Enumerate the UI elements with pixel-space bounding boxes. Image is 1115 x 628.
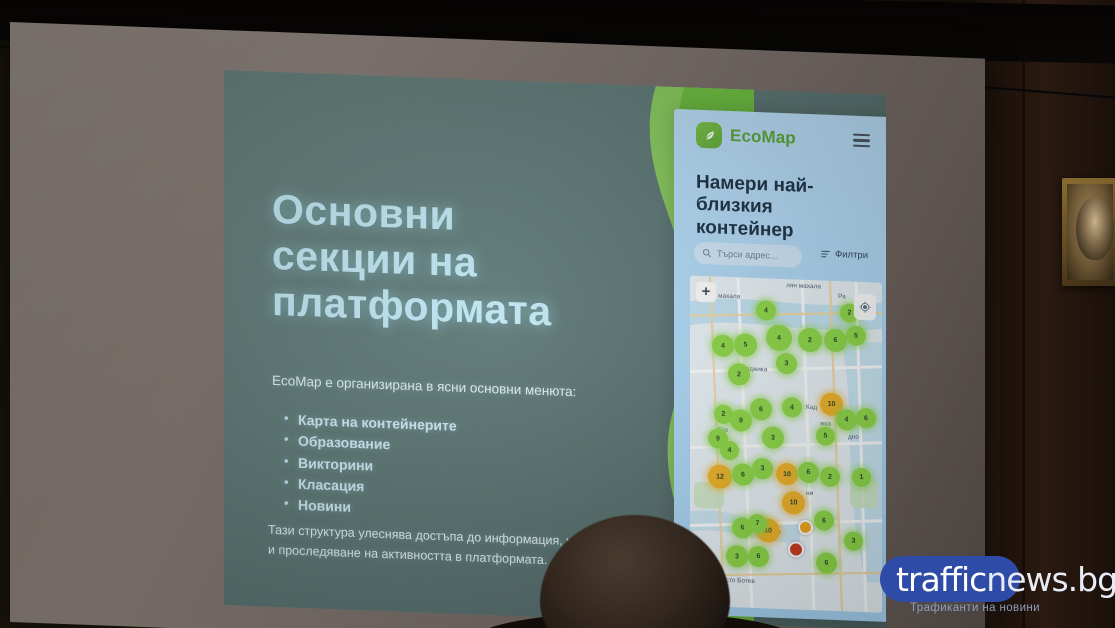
- map-cluster-marker[interactable]: 4: [756, 300, 776, 321]
- mockup-header: EcoMap: [674, 109, 886, 165]
- map-cluster-marker[interactable]: 10: [776, 463, 798, 486]
- search-input[interactable]: Търси адрес...: [694, 242, 802, 268]
- map-cluster-marker[interactable]: 3: [762, 426, 784, 449]
- app-logo-text: EcoMap: [730, 126, 796, 148]
- watermark: trafficnews.bg Трафиканти на новини: [880, 550, 1115, 620]
- filter-icon: [820, 248, 831, 259]
- map-cluster-marker[interactable]: 3: [726, 545, 748, 568]
- map-cluster-marker[interactable]: 12: [708, 464, 732, 489]
- watermark-brand: trafficnews.bg: [896, 560, 1115, 600]
- map-cluster-marker[interactable]: 4: [836, 409, 857, 431]
- map-zoom-in-button[interactable]: +: [696, 282, 716, 303]
- map-label: дно: [848, 433, 859, 440]
- map-cluster-marker[interactable]: 2: [728, 363, 750, 386]
- watermark-tagline: Трафиканти на новини: [910, 602, 1040, 614]
- map-cluster-marker[interactable]: 5: [816, 426, 835, 446]
- portrait-mat: [1067, 184, 1113, 280]
- map-cluster-marker[interactable]: 5: [734, 333, 757, 357]
- hamburger-menu-icon[interactable]: [853, 134, 870, 148]
- map-cluster-marker[interactable]: 1: [852, 468, 871, 488]
- map-cluster-marker[interactable]: 5: [846, 325, 866, 346]
- slide-title: Основни секции на платформата: [272, 187, 602, 337]
- search-icon: [702, 248, 712, 258]
- filters-button[interactable]: Филтри: [820, 248, 868, 261]
- map-cluster-marker[interactable]: 6: [816, 552, 837, 574]
- map-cluster-marker[interactable]: 2: [820, 466, 840, 487]
- map-cluster-marker[interactable]: 6: [798, 462, 819, 484]
- map-cluster-marker[interactable]: 7: [748, 514, 767, 534]
- search-placeholder-text: Търси адрес...: [717, 249, 777, 261]
- presentation-photo-scene: Основни секции на платформата EcoMap е о…: [0, 0, 1115, 628]
- map-cluster-marker[interactable]: 4: [782, 397, 802, 418]
- map-cluster-marker[interactable]: 9: [730, 409, 752, 432]
- map-cluster-marker[interactable]: 6: [824, 329, 847, 353]
- map-cluster-marker[interactable]: 6: [732, 463, 754, 486]
- map-cluster-marker[interactable]: 4: [712, 334, 734, 357]
- slide-lead-text: EcoMap е организирана в ясни основни мен…: [272, 372, 602, 403]
- map-label: ни: [806, 490, 813, 497]
- map-cluster-marker[interactable]: 10: [782, 491, 805, 515]
- map-cluster-marker[interactable]: 6: [748, 546, 769, 568]
- watermark-brand-bold: traffic: [896, 560, 986, 599]
- map-cluster-marker[interactable]: 3: [752, 458, 773, 480]
- map-pin-marker[interactable]: [788, 541, 804, 558]
- map-cluster-marker[interactable]: 6: [750, 398, 772, 421]
- slide-bullet-list: Карта на контейнерите Образование Виктор…: [282, 409, 602, 527]
- map-label: Ра: [838, 293, 846, 300]
- map-cluster-marker[interactable]: 4: [766, 324, 792, 351]
- map-cluster-marker[interactable]: 6: [856, 408, 876, 429]
- watermark-brand-light: news.bg: [986, 560, 1115, 599]
- map-cluster-marker[interactable]: 6: [814, 510, 834, 531]
- framed-portrait: [1062, 178, 1115, 286]
- mockup-heading: Намери най-близкия контейнер: [696, 172, 871, 246]
- map-label: Кад: [806, 404, 817, 411]
- presentation-slide: Основни секции на платформата EcoMap е о…: [224, 70, 886, 628]
- mockup-search-row: Търси адрес... Филтри: [694, 242, 870, 271]
- map-cluster-marker[interactable]: 2: [798, 328, 822, 353]
- locate-icon[interactable]: [854, 294, 876, 321]
- leaf-icon: [696, 122, 722, 149]
- projection-screen: Основни секции на платформата EcoMap е о…: [10, 22, 985, 628]
- portrait-photo: [1076, 198, 1114, 260]
- wood-panel-seam: [1022, 0, 1025, 628]
- map-label: лян махала: [786, 282, 821, 290]
- map-cluster-marker[interactable]: 4: [720, 441, 739, 461]
- map-pin-marker[interactable]: [798, 520, 813, 536]
- map-label: махала: [718, 293, 740, 301]
- map-cluster-marker[interactable]: 3: [844, 531, 863, 551]
- map-cluster-marker[interactable]: 3: [776, 353, 797, 375]
- wood-panel: [1000, 0, 1115, 628]
- filters-label: Филтри: [835, 249, 868, 261]
